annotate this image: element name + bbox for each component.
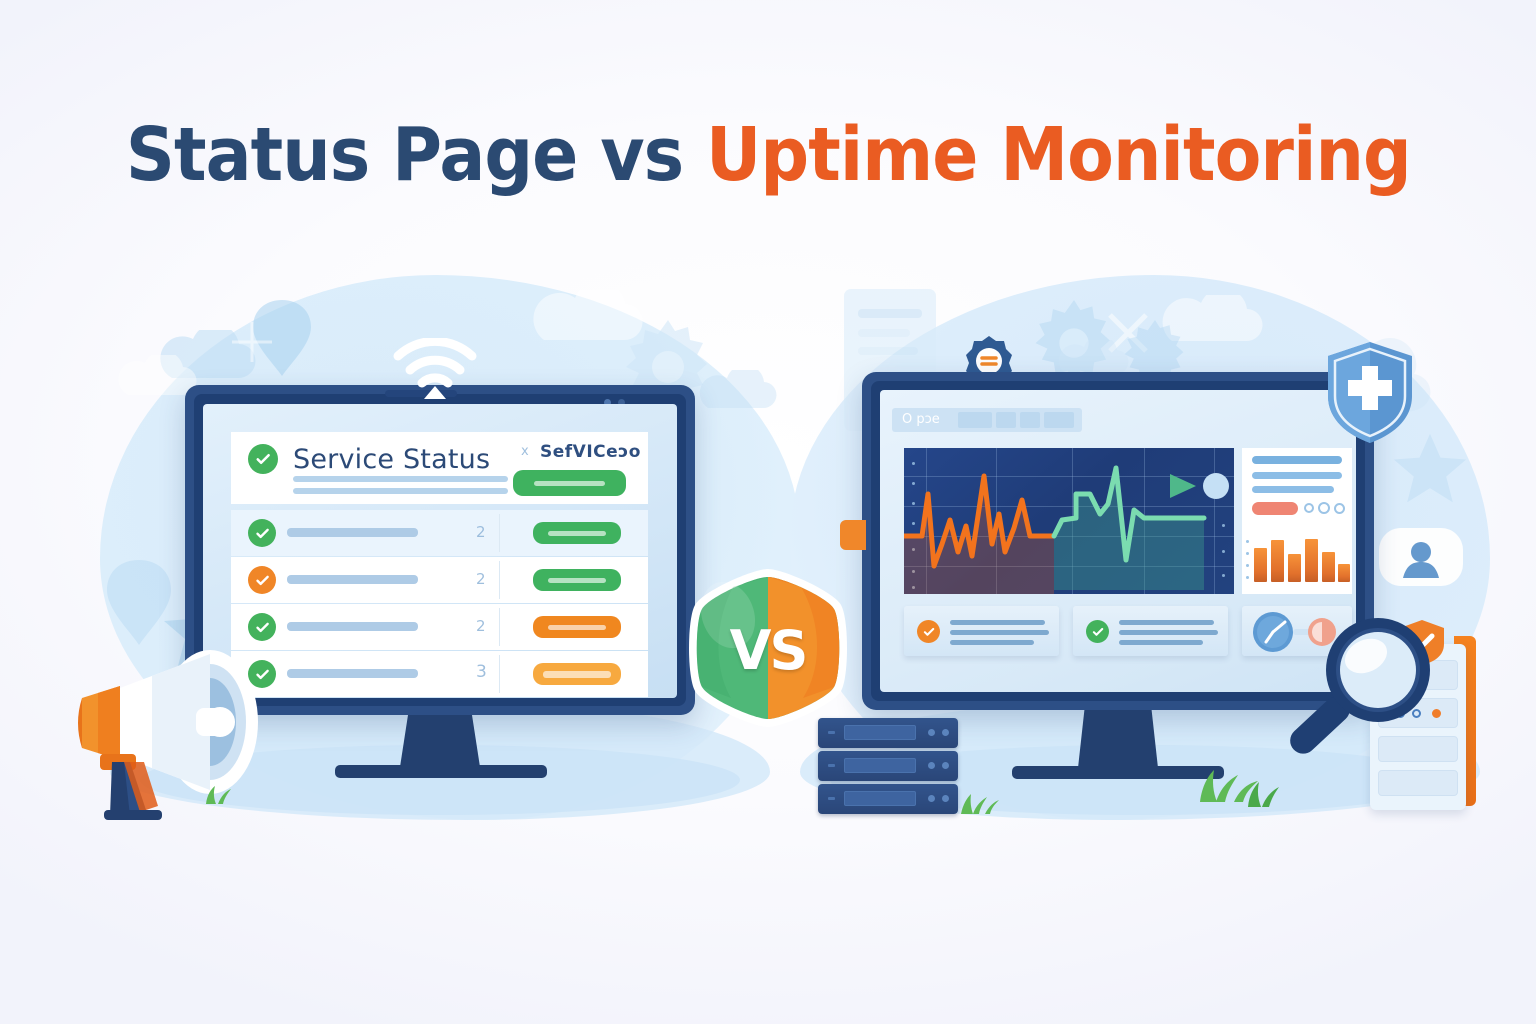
title-separator: vs: [577, 112, 706, 198]
grass-icon: [200, 780, 244, 809]
row-status-badge[interactable]: [533, 663, 621, 685]
check-circle-icon: [1086, 620, 1109, 643]
wifi-icon: [392, 338, 478, 405]
alert-pill[interactable]: [1252, 502, 1298, 515]
uptime-chart: [904, 448, 1234, 594]
info-card-line: [950, 620, 1045, 625]
row-counter: 2: [476, 570, 486, 588]
illustration-canvas: Status Page vs Uptime Monitoring: [0, 0, 1536, 1024]
user-avatar-icon: [1375, 520, 1467, 600]
info-card-line: [1119, 630, 1218, 635]
check-circle-icon: [248, 566, 276, 594]
row-status-badge[interactable]: [533, 522, 621, 544]
side-skeleton-line-2: [1252, 472, 1342, 479]
status-dot-icon: [1334, 503, 1345, 514]
info-card-line: [950, 640, 1034, 645]
check-circle-icon: [248, 444, 278, 474]
title-part-orange: Uptime Monitoring: [706, 112, 1411, 198]
row-counter: 2: [476, 523, 486, 541]
chart-side-panel: [1242, 448, 1352, 594]
title-part-navy: Status Page: [125, 112, 577, 198]
row-status-badge[interactable]: [533, 616, 621, 638]
table-row[interactable]: 2: [231, 510, 648, 556]
service-status-title: Service Status: [293, 444, 490, 475]
bar-chart-bar: [1254, 548, 1267, 582]
brand-prefix-icon: x: [521, 444, 529, 459]
info-card[interactable]: [1073, 606, 1228, 656]
magnifier-icon: [1278, 608, 1448, 778]
check-circle-icon: [248, 519, 276, 547]
row-label-skeleton: [287, 528, 418, 537]
shield-health-icon: [1324, 340, 1416, 450]
row-status-badge[interactable]: [533, 569, 621, 591]
monitor-stand-neck-right: [1078, 710, 1158, 768]
bar-chart-bar: [1288, 554, 1301, 582]
header-skeleton-line-1: [293, 476, 508, 482]
info-card[interactable]: [904, 606, 1059, 656]
bar-chart-bar: [1271, 540, 1284, 582]
row-counter: 3: [476, 662, 487, 682]
cloud-icon: [690, 370, 780, 416]
dashboard-topbar-label: O pɔe: [902, 412, 940, 427]
info-card-line: [1119, 620, 1214, 625]
row-counter: 2: [476, 617, 486, 635]
sparkle-icon: [230, 320, 274, 364]
accent-tab-left: [840, 520, 866, 550]
bar-chart-bar: [1305, 539, 1318, 582]
bar-chart-bar: [1322, 552, 1335, 582]
row-label-skeleton: [287, 575, 418, 584]
grass-icon: [1240, 775, 1300, 812]
table-row[interactable]: 2: [231, 557, 648, 603]
status-dot-icon: [1304, 503, 1314, 513]
check-circle-icon: [917, 620, 940, 643]
vs-badge-label: VS: [683, 563, 853, 738]
side-skeleton-line-3: [1252, 486, 1334, 493]
vs-badge: VS: [683, 563, 853, 738]
header-skeleton-line-2: [293, 488, 508, 494]
side-skeleton-line-1: [1252, 456, 1342, 464]
chart-series: [904, 448, 1234, 594]
info-card-line: [1119, 640, 1203, 645]
grass-icon: [955, 788, 1005, 819]
brand-text: SefVICeɔo: [540, 442, 641, 462]
page-title: Status Page vs Uptime Monitoring: [0, 118, 1536, 192]
info-card-line: [950, 630, 1049, 635]
bar-chart-bar: [1338, 564, 1350, 582]
header-status-badge[interactable]: [513, 470, 626, 496]
status-dot-icon: [1318, 502, 1330, 514]
monitor-stand-neck-left: [400, 715, 480, 767]
